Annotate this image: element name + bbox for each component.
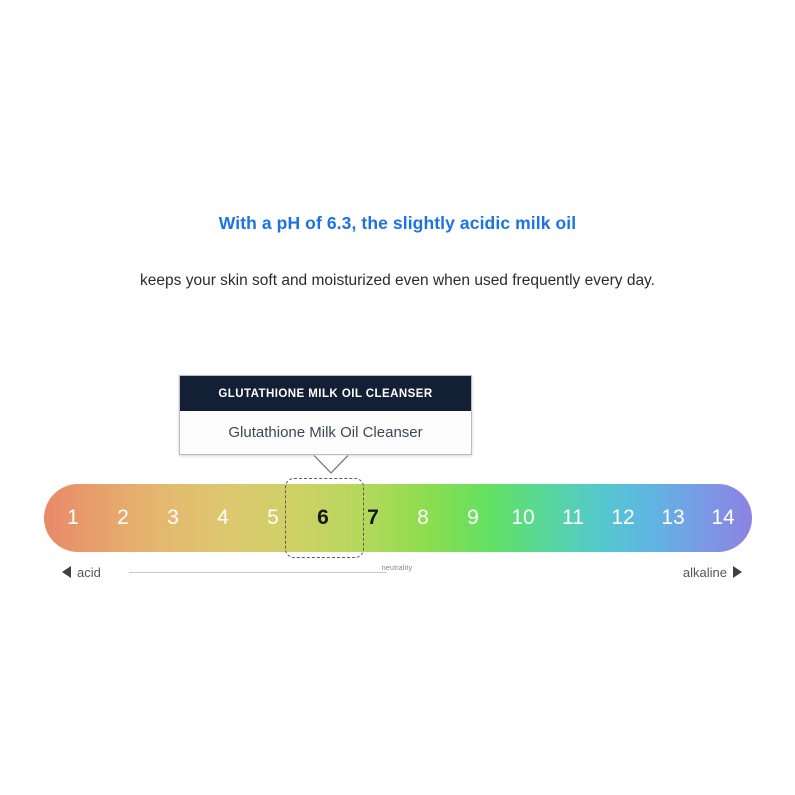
subheadline-text: keeps your skin soft and moisturized eve… <box>0 235 795 291</box>
ph-scale-legend: acid neutrality alkaline <box>44 561 752 583</box>
ph-gradient-scale: 1234567891011121314 <box>44 484 752 552</box>
tooltip-product-name: Glutathione Milk Oil Cleanser <box>228 424 422 441</box>
ph-tick-13: 13 <box>653 484 693 552</box>
ph-tick-11: 11 <box>553 484 593 552</box>
legend-alkaline-side: alkaline <box>683 561 742 583</box>
marketing-copy-block: With a pH of 6.3, the slightly acidic mi… <box>0 212 795 291</box>
legend-acid-label: acid <box>77 565 101 580</box>
ph-tick-3: 3 <box>153 484 193 552</box>
ph-tick-9: 9 <box>453 484 493 552</box>
ph-highlight-selection-box <box>285 478 364 558</box>
tooltip-pointer-down-icon <box>314 455 348 475</box>
arrow-right-icon <box>733 566 742 578</box>
legend-neutrality-label: neutrality <box>357 565 437 572</box>
legend-divider-rule <box>129 572 387 573</box>
ph-tick-4: 4 <box>203 484 243 552</box>
tooltip-brand-title: GLUTATHIONE MILK OIL CLEANSER <box>218 388 432 400</box>
headline-text: With a pH of 6.3, the slightly acidic mi… <box>0 212 795 235</box>
ph-tick-8: 8 <box>403 484 443 552</box>
ph-tick-10: 10 <box>503 484 543 552</box>
ph-tick-2: 2 <box>103 484 143 552</box>
ph-tick-12: 12 <box>603 484 643 552</box>
tooltip-header: GLUTATHIONE MILK OIL CLEANSER <box>180 376 471 411</box>
legend-alkaline-label: alkaline <box>683 565 727 580</box>
tooltip-body: Glutathione Milk Oil Cleanser <box>180 411 471 454</box>
arrow-left-icon <box>62 566 71 578</box>
ph-tick-1: 1 <box>53 484 93 552</box>
legend-acid-side: acid <box>62 561 101 583</box>
ph-tick-14: 14 <box>703 484 743 552</box>
product-tooltip: GLUTATHIONE MILK OIL CLEANSER Glutathion… <box>179 375 472 455</box>
